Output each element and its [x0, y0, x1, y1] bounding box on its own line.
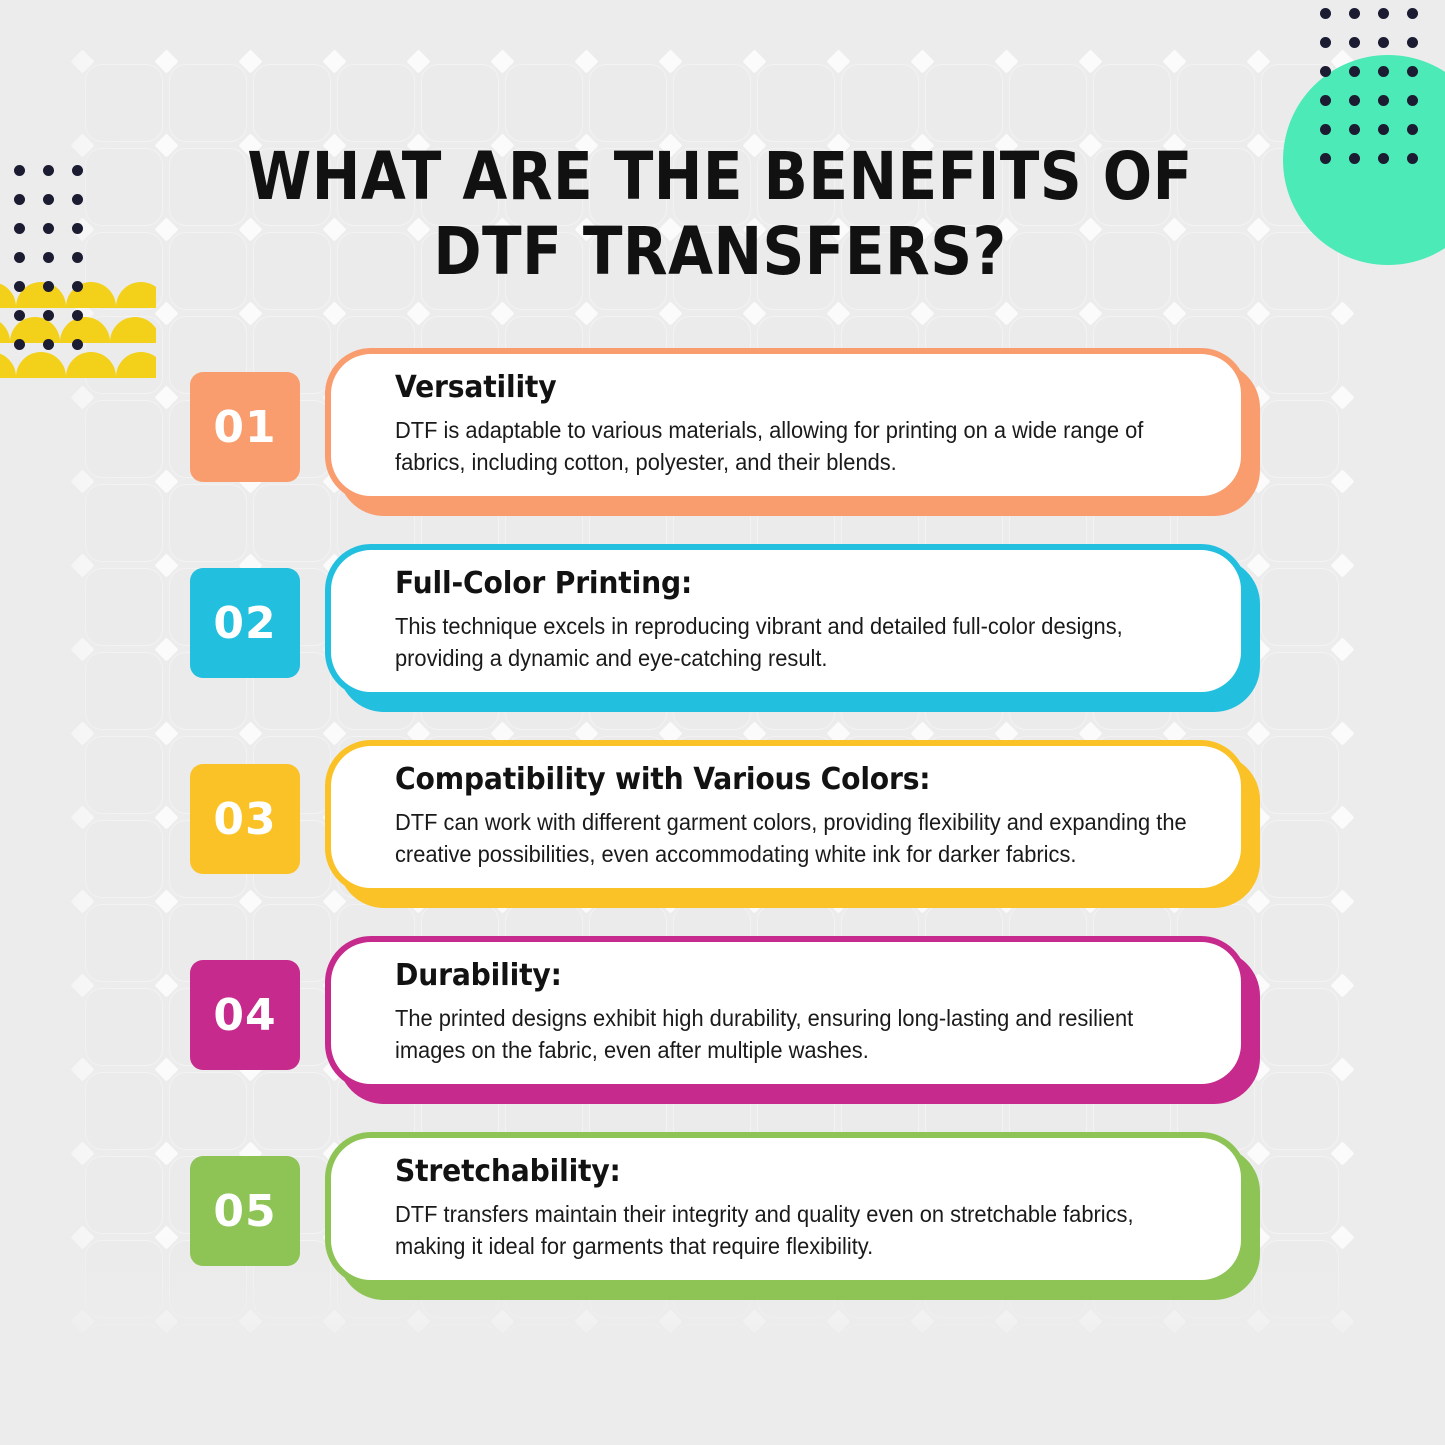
grid-tile [590, 1325, 666, 1401]
grid-tile [422, 1325, 498, 1401]
dome-shape [116, 282, 156, 308]
benefit-row: Stretchability:DTF transfers maintain th… [0, 1132, 1445, 1328]
decor-dot [14, 194, 25, 205]
grid-diamond [574, 301, 598, 325]
grid-tile [1178, 65, 1254, 141]
grid-diamond [406, 1393, 430, 1417]
decor-dot [43, 281, 54, 292]
benefits-list: VersatilityDTF is adaptable to various m… [0, 348, 1445, 1328]
benefit-number-badge: 02 [190, 568, 300, 678]
card-body: Compatibility with Various Colors:DTF ca… [325, 740, 1247, 894]
grid-diamond [658, 49, 682, 73]
decor-dot [1407, 153, 1418, 164]
decor-dot [1320, 153, 1331, 164]
grid-diamond [154, 301, 178, 325]
decor-dot [72, 194, 83, 205]
grid-tile [1010, 65, 1086, 141]
decor-dot [43, 223, 54, 234]
grid-diamond [1078, 49, 1102, 73]
grid-diamond [238, 301, 262, 325]
grid-diamond [826, 1393, 850, 1417]
decor-dot [1378, 66, 1389, 77]
decor-dot [1378, 124, 1389, 135]
grid-tile [254, 65, 330, 141]
grid-tile [842, 1325, 918, 1401]
decor-dot [1378, 95, 1389, 106]
benefit-row: Full-Color Printing:This technique excel… [0, 544, 1445, 740]
benefit-heading: Durability: [395, 958, 1156, 993]
decor-dot [1407, 66, 1418, 77]
grid-diamond [1330, 1393, 1354, 1417]
decor-dot [72, 281, 83, 292]
grid-diamond [910, 301, 934, 325]
grid-diamond [1330, 301, 1354, 325]
benefit-description: The printed designs exhibit high durabil… [395, 1002, 1201, 1066]
grid-diamond [490, 1393, 514, 1417]
benefit-number-badge: 01 [190, 372, 300, 482]
decor-dot [1378, 153, 1389, 164]
benefit-description: DTF can work with different garment colo… [395, 806, 1201, 870]
grid-tile [338, 65, 414, 141]
grid-diamond [658, 301, 682, 325]
benefit-card: Durability:The printed designs exhibit h… [325, 936, 1260, 1104]
benefit-number-badge: 05 [190, 1156, 300, 1266]
grid-diamond [910, 1393, 934, 1417]
grid-diamond [322, 301, 346, 325]
grid-diamond [490, 49, 514, 73]
card-body: Durability:The printed designs exhibit h… [325, 936, 1247, 1090]
grid-diamond [826, 49, 850, 73]
grid-diamond [1246, 217, 1270, 241]
card-body: Full-Color Printing:This technique excel… [325, 544, 1247, 698]
grid-diamond [154, 1393, 178, 1417]
decor-dot [1349, 66, 1360, 77]
decor-dot [14, 223, 25, 234]
grid-diamond [1246, 301, 1270, 325]
decor-dot [1407, 37, 1418, 48]
grid-tile [674, 65, 750, 141]
grid-diamond [406, 301, 430, 325]
dot-grid-top-right-decoration [1320, 8, 1440, 173]
grid-diamond [70, 133, 94, 157]
benefit-heading: Full-Color Printing: [395, 566, 1156, 601]
benefit-row: Compatibility with Various Colors:DTF ca… [0, 740, 1445, 936]
benefit-description: DTF transfers maintain their integrity a… [395, 1198, 1201, 1262]
benefit-card: VersatilityDTF is adaptable to various m… [325, 348, 1260, 516]
grid-diamond [154, 133, 178, 157]
grid-diamond [154, 217, 178, 241]
decor-dot [1320, 124, 1331, 135]
decor-dot [1407, 124, 1418, 135]
grid-diamond [406, 49, 430, 73]
decor-dot [1349, 124, 1360, 135]
grid-tile [674, 1325, 750, 1401]
benefit-card: Full-Color Printing:This technique excel… [325, 544, 1260, 712]
grid-tile [170, 65, 246, 141]
decor-dot [1378, 8, 1389, 19]
decor-dot [1349, 95, 1360, 106]
decor-dot [43, 310, 54, 321]
benefit-heading: Versatility [395, 370, 1156, 405]
grid-diamond [322, 1393, 346, 1417]
grid-diamond [1078, 301, 1102, 325]
grid-diamond [70, 49, 94, 73]
grid-tile [338, 1325, 414, 1401]
decor-dot [1349, 37, 1360, 48]
grid-diamond [322, 49, 346, 73]
decor-dot [14, 310, 25, 321]
grid-tile [758, 65, 834, 141]
decor-dot [43, 165, 54, 176]
grid-diamond [826, 301, 850, 325]
decor-dot [43, 252, 54, 263]
grid-tile [926, 1325, 1002, 1401]
grid-diamond [238, 49, 262, 73]
benefit-card: Compatibility with Various Colors:DTF ca… [325, 740, 1260, 908]
benefit-row: Durability:The printed designs exhibit h… [0, 936, 1445, 1132]
benefit-number-badge: 03 [190, 764, 300, 874]
grid-tile [590, 65, 666, 141]
grid-diamond [658, 1393, 682, 1417]
decor-dot [72, 165, 83, 176]
grid-tile [758, 1325, 834, 1401]
decor-dot [1407, 95, 1418, 106]
grid-tile [254, 1325, 330, 1401]
decor-dot [14, 165, 25, 176]
grid-diamond [1078, 1393, 1102, 1417]
dome-shape [110, 317, 156, 343]
grid-diamond [994, 1393, 1018, 1417]
dot-grid-left-decoration [14, 165, 104, 360]
grid-diamond [1162, 1393, 1186, 1417]
page-title: WHAT ARE THE BENEFITS OF DTF TRANSFERS? [227, 140, 1213, 289]
decor-dot [1349, 153, 1360, 164]
card-body: Stretchability:DTF transfers maintain th… [325, 1132, 1247, 1286]
grid-diamond [1246, 1393, 1270, 1417]
benefit-description: DTF is adaptable to various materials, a… [395, 414, 1201, 478]
grid-diamond [154, 49, 178, 73]
decor-dot [1378, 37, 1389, 48]
grid-diamond [1246, 49, 1270, 73]
grid-diamond [490, 301, 514, 325]
grid-diamond [1246, 133, 1270, 157]
decor-dot [1407, 8, 1418, 19]
grid-tile [506, 65, 582, 141]
grid-tile [842, 65, 918, 141]
grid-tile [170, 1325, 246, 1401]
benefit-number-badge: 04 [190, 960, 300, 1070]
card-body: VersatilityDTF is adaptable to various m… [325, 348, 1247, 502]
benefit-heading: Stretchability: [395, 1154, 1156, 1189]
grid-diamond [742, 301, 766, 325]
grid-diamond [994, 301, 1018, 325]
decor-dot [14, 252, 25, 263]
grid-tile [506, 1325, 582, 1401]
benefit-description: This technique excels in reproducing vib… [395, 610, 1201, 674]
decor-dot [72, 223, 83, 234]
grid-tile [1094, 65, 1170, 141]
grid-tile [1094, 1325, 1170, 1401]
grid-tile [926, 65, 1002, 141]
grid-diamond [742, 1393, 766, 1417]
benefit-row: VersatilityDTF is adaptable to various m… [0, 348, 1445, 544]
grid-diamond [910, 49, 934, 73]
decor-dot [14, 281, 25, 292]
decor-dot [43, 194, 54, 205]
benefit-card: Stretchability:DTF transfers maintain th… [325, 1132, 1260, 1300]
benefit-heading: Compatibility with Various Colors: [395, 762, 1156, 797]
decor-dot [1320, 95, 1331, 106]
grid-diamond [1162, 301, 1186, 325]
decor-dot [72, 252, 83, 263]
decor-dot [72, 310, 83, 321]
grid-tile [86, 1325, 162, 1401]
grid-diamond [574, 49, 598, 73]
decor-dot [1349, 8, 1360, 19]
grid-tile [86, 65, 162, 141]
grid-diamond [1162, 49, 1186, 73]
grid-diamond [238, 1393, 262, 1417]
decor-dot [1320, 66, 1331, 77]
decor-dot [1320, 8, 1331, 19]
grid-diamond [742, 49, 766, 73]
decor-dot [1320, 37, 1331, 48]
grid-diamond [70, 1393, 94, 1417]
grid-tile [1178, 1325, 1254, 1401]
grid-diamond [574, 1393, 598, 1417]
grid-tile [1262, 1325, 1338, 1401]
grid-diamond [994, 49, 1018, 73]
grid-tile [1010, 1325, 1086, 1401]
dome-shape [0, 317, 10, 343]
grid-tile [422, 65, 498, 141]
